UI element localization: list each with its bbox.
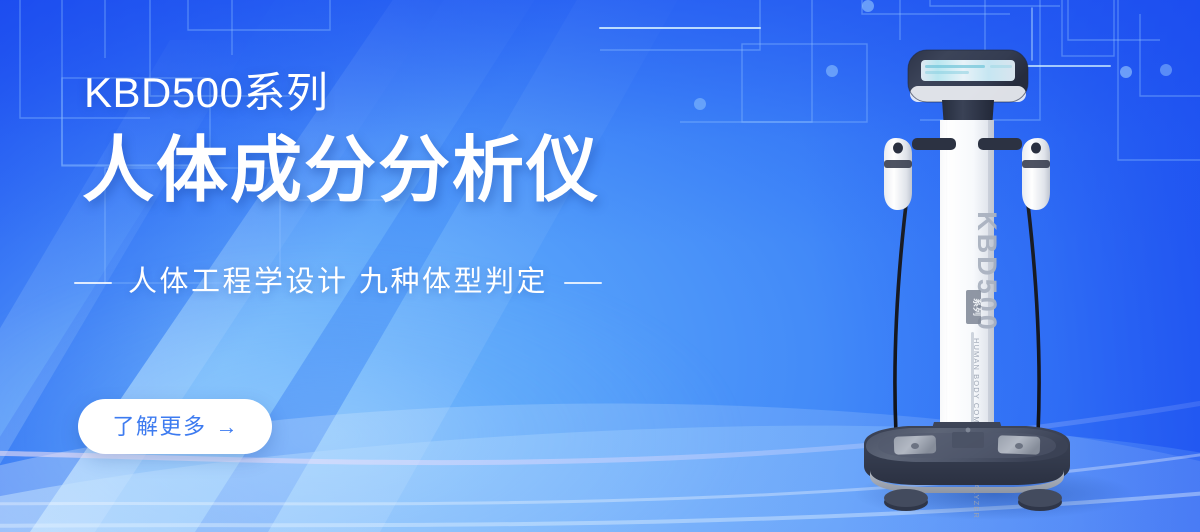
device-base-platform	[864, 426, 1070, 493]
banner-subtitle: 人体工程学设计 九种体型判定	[128, 268, 548, 297]
promo-banner: KBD500 系列 HUMAN BODY COMPOSITION ANALYZE…	[0, 0, 1200, 532]
arrow-right-icon: →	[216, 416, 238, 438]
svg-text:系列: 系列	[972, 298, 983, 316]
subtitle-rule-right	[564, 282, 602, 284]
banner-content: KBD500系列 人体成分分析仪 人体工程学设计 九种体型判定 了解更多 →	[82, 0, 722, 532]
banner-headline: 人体成分分析仪	[82, 135, 600, 207]
learn-more-label: 了解更多	[112, 416, 206, 438]
learn-more-button[interactable]: 了解更多 →	[78, 399, 272, 454]
device-display	[908, 50, 1028, 102]
banner-subtitle-row: 人体工程学设计 九种体型判定	[74, 268, 602, 297]
subtitle-rule-left	[74, 282, 112, 284]
banner-eyebrow: KBD500系列	[84, 72, 328, 114]
device-illustration: KBD500 系列 HUMAN BODY COMPOSITION ANALYZE…	[822, 42, 1162, 520]
